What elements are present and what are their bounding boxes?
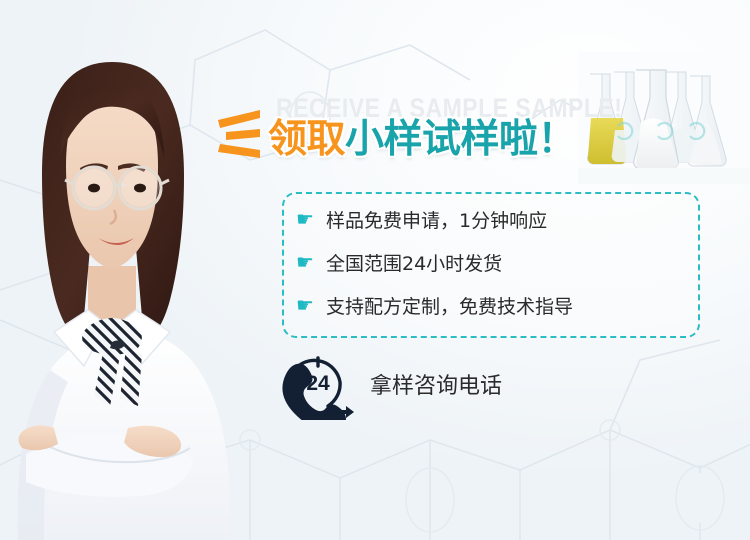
page-title: 领取小样试样啦！ [268,108,576,164]
woman-with-glasses-portrait [0,24,250,540]
list-item-label: 支持配方定制，免费技术指导 [326,292,573,319]
pointing-hand-icon: ☛ [296,253,326,273]
triple-chevron-icon [214,104,272,162]
pointing-hand-icon: ☛ [296,210,326,230]
list-item: ☛ 样品免费申请，1分钟响应 [296,198,696,241]
pointing-hand-icon: ☛ [296,296,326,316]
list-item-label: 样品免费申请，1分钟响应 [326,206,547,233]
headline-part-orange: 领取 [268,117,345,162]
list-item: ☛ 支持配方定制，免费技术指导 [296,284,696,327]
list-item: ☛ 全国范围24小时发货 [296,241,696,284]
headline-block: RECEIVE A SAMPLE SAMPLE! 领取小样试样啦！ [214,92,634,176]
list-item-label: 全国范围24小时发货 [326,249,502,276]
phone-badge-24: 24 [306,372,330,395]
contact-row: 24 拿样咨询电话 [278,348,502,420]
features-list: ☛ 样品免费申请，1分钟响应 ☛ 全国范围24小时发货 ☛ 支持配方定制，免费技… [296,198,696,327]
promo-banner: RECEIVE A SAMPLE SAMPLE! 领取小样试样啦！ ☛ 样品免费… [0,0,750,540]
headline-part-teal: 小样试样啦！ [345,117,576,162]
phone-24h-icon: 24 [278,348,356,420]
contact-label: 拿样咨询电话 [370,368,502,400]
